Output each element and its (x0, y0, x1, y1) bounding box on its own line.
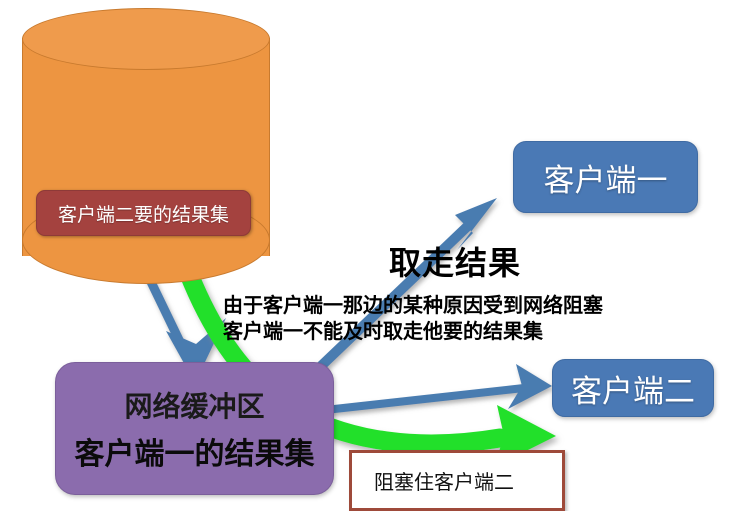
take-result-label: 取走结果 (389, 238, 521, 284)
network-buffer-title: 网络缓冲区 (124, 385, 264, 425)
blocked-note-box: 阻塞住客户端二 (349, 450, 565, 511)
result-set-label: 客户端二要的结果集 (36, 190, 251, 236)
network-buffer-subtitle: 客户端一的结果集 (75, 429, 315, 473)
client-one-box[interactable]: 客户端一 (513, 141, 698, 213)
result-set-label-text: 客户端二要的结果集 (58, 200, 229, 227)
description-block: 由于客户端一那边的某种原因受到网络阻塞 客户端一不能及时取走他要的结果集 (223, 292, 603, 344)
client-one-label: 客户端一 (544, 155, 668, 200)
database-cylinder (22, 8, 270, 286)
diagram-canvas: 客户端二要的结果集 客户端一 客户端二 网络缓冲区 客户端一的结果集 阻塞住客户… (0, 0, 738, 511)
blocked-note-text: 阻塞住客户端二 (374, 466, 514, 495)
client-two-box[interactable]: 客户端二 (552, 359, 714, 417)
description-line-2: 客户端一不能及时取走他要的结果集 (223, 318, 603, 344)
client-two-label: 客户端二 (571, 366, 695, 411)
cylinder-top-ellipse (22, 8, 270, 70)
description-line-1: 由于客户端一那边的某种原因受到网络阻塞 (223, 292, 603, 318)
network-buffer-box[interactable]: 网络缓冲区 客户端一的结果集 (55, 362, 334, 495)
